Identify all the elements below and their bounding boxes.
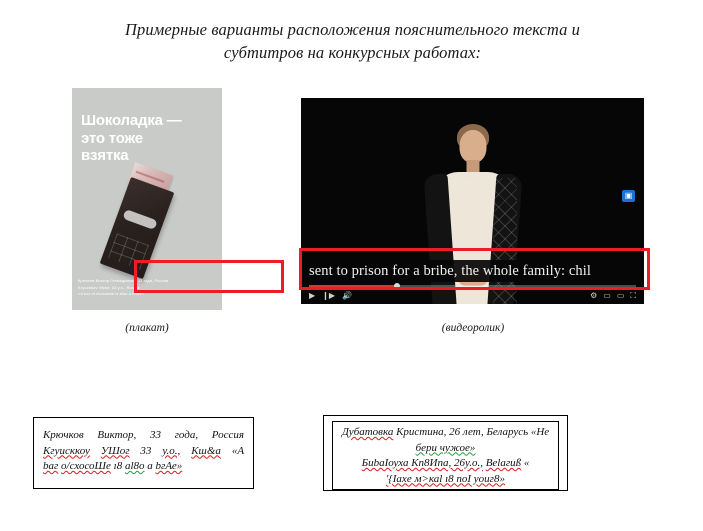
- theater-mode-icon[interactable]: ▭: [617, 292, 625, 300]
- page-title: Примерные варианты расположения поясните…: [105, 18, 600, 64]
- page-title-line-2: субтитров на конкурсных работах:: [224, 43, 481, 62]
- poster-figure: Шоколадка — это тоже взятка Крючков Викт…: [72, 88, 222, 310]
- speaker-necklace: [460, 168, 486, 180]
- right-credit-line-3: БиbаIоуха Кn8Ипа, 26у.о., Веlагиß «: [339, 456, 552, 472]
- play-icon[interactable]: ▶: [309, 292, 315, 300]
- left-credit-l3-token-2: о/схосоШе: [61, 460, 111, 472]
- left-credit-line-3: bаг о/схосоШе ı8 аl8о а bгАе»: [43, 459, 244, 475]
- left-credit-l3-token-3: ı8: [114, 460, 123, 472]
- chocolate-brand-mark: [122, 209, 157, 230]
- figure-row: Шоколадка — это тоже взятка Крючков Викт…: [0, 88, 703, 348]
- left-credit-l3-token-6: bгАе»: [156, 460, 183, 472]
- left-credit-l2-token-1: Кгуисккоу: [43, 445, 90, 457]
- poster-credit-line-3: «A bar of chocolate is also a bribe»: [78, 291, 216, 298]
- left-credit-l2-token-6: «А: [232, 445, 244, 457]
- video-controls-bar: ▶ ❙▶ 🔊 ⚙ ▭ ▭ ⛶: [301, 287, 644, 304]
- fullscreen-icon[interactable]: ⛶: [630, 292, 636, 300]
- chocolate-bar-illustration: [108, 166, 182, 278]
- video-controls-right: ⚙ ▭ ▭ ⛶: [590, 292, 636, 300]
- poster-image: Шоколадка — это тоже взятка Крючков Викт…: [72, 88, 222, 310]
- poster-credit-strip: Крючков Виктор Геннадьевич, 33 года, Рос…: [72, 276, 222, 302]
- poster-headline: Шоколадка — это тоже взятка: [81, 112, 215, 165]
- left-credit-l2-token-3: 33: [140, 445, 151, 457]
- subtitle-text: sent to prison for a bribe, the whole fa…: [301, 262, 591, 280]
- settings-gear-icon[interactable]: ⚙: [590, 292, 597, 300]
- poster-headline-line-2: это тоже: [81, 130, 215, 148]
- speaker-head: [459, 130, 486, 163]
- video-figure: ▣ sent to prison for a bribe, the whole …: [295, 90, 650, 312]
- volume-icon[interactable]: 🔊: [342, 292, 352, 300]
- right-credit-box: Дубатовка Кристина, 26 лет, Беларусь «Не…: [323, 415, 568, 491]
- left-credit-l3-token-5: а: [147, 460, 153, 472]
- left-credit-l3-token-1: bаг: [43, 460, 58, 472]
- right-credit-l3-token-1: БиbаIоуха Кn8Ипа, 26у.о.,: [362, 457, 483, 469]
- left-credit-line-1: Крючков Виктор, 33 года, Россия: [43, 428, 244, 444]
- right-credit-l1-token-1: Дубатовка: [342, 426, 394, 438]
- right-credit-line-4: '{Iахе м>каl ı8 nоI уоиг8»: [339, 472, 552, 488]
- miniplayer-icon[interactable]: ▭: [603, 292, 611, 300]
- right-credit-line-1: Дубатовка Кристина, 26 лет, Беларусь «Не: [339, 425, 552, 441]
- left-credit-l2-token-4: у.о.,: [162, 445, 180, 457]
- subtitle-band: sent to prison for a bribe, the whole fa…: [301, 260, 644, 282]
- left-credit-line-2: Кгуисккоу УШог 33 у.о., Кш&а «А: [43, 444, 244, 460]
- video-caption: (видеоролик): [375, 322, 571, 334]
- video-frame: ▣ sent to prison for a bribe, the whole …: [295, 90, 650, 312]
- video-player[interactable]: ▣ sent to prison for a bribe, the whole …: [301, 98, 644, 304]
- left-credit-l2-token-2: УШог: [101, 445, 130, 457]
- picture-in-picture-icon[interactable]: ▣: [622, 190, 635, 202]
- poster-caption: (плакат): [62, 322, 232, 334]
- chocolate-bar-wrapper: [100, 177, 175, 279]
- right-credit-l4-text: '{Iахе м>каl ı8 nоI уоиг8»: [386, 473, 505, 485]
- right-credit-l2-text: бери чужое»: [416, 442, 476, 454]
- right-credit-line-2: бери чужое»: [339, 441, 552, 457]
- poster-headline-line-3: взятка: [81, 147, 215, 165]
- page-title-line-1: Примерные варианты расположения поясните…: [125, 20, 580, 39]
- left-credit-box: Крючков Виктор, 33 года, Россия Кгуискко…: [33, 417, 254, 489]
- left-credit-l2-token-5: Кш&а: [191, 445, 221, 457]
- next-track-icon[interactable]: ❙▶: [322, 292, 335, 300]
- right-credit-inner-frame: Дубатовка Кристина, 26 лет, Беларусь «Не…: [332, 421, 559, 490]
- poster-headline-line-1: Шоколадка —: [81, 112, 215, 130]
- right-credit-l3-token-2: Веlагиß: [486, 457, 521, 469]
- chocolate-segments: [108, 233, 149, 269]
- right-credit-l3-token-3: «: [524, 457, 530, 469]
- left-credit-l3-token-4: аl8о: [125, 460, 145, 472]
- right-credit-l1-token-2: Кристина, 26 лет, Беларусь «Не: [396, 426, 549, 438]
